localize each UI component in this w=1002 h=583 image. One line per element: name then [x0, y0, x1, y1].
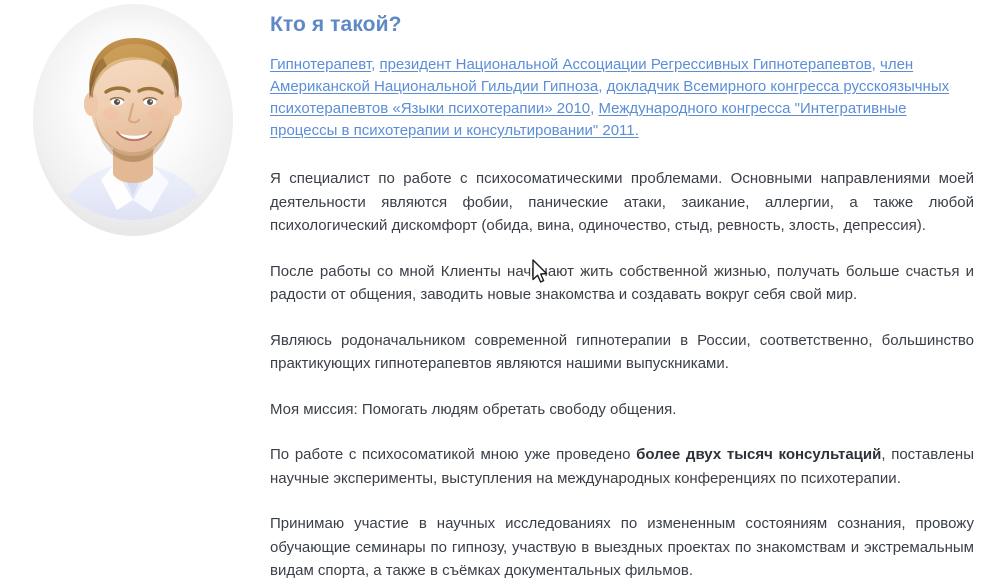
credential-separator: , — [598, 78, 606, 95]
page-title: Кто я такой? — [270, 0, 974, 39]
content-column: Кто я такой? Гипнотерапевт, президент На… — [270, 0, 974, 583]
credential-separator: , — [872, 56, 880, 73]
credential-link-1[interactable]: президент Национальной Ассоциации Регрес… — [379, 56, 871, 73]
avatar-column — [0, 0, 262, 553]
avatar — [33, 4, 233, 236]
credentials-links: Гипнотерапевт, президент Национальной Ас… — [270, 39, 974, 142]
paragraph-specialization: Я специалист по работе с психосоматическ… — [270, 142, 974, 238]
paragraph-research: Принимаю участие в научных исследованиях… — [270, 490, 974, 583]
experience-text-before: По работе с психосоматикой мною уже пров… — [270, 446, 636, 463]
paragraph-mission: Моя миссия: Помогать людям обретать своб… — [270, 376, 974, 422]
about-me-section: Кто я такой? Гипнотерапевт, президент На… — [0, 0, 1002, 553]
credential-link-0[interactable]: Гипнотерапевт — [270, 56, 371, 73]
experience-highlight: более двух тысяч консультаций — [636, 446, 881, 463]
paragraph-results: После работы со мной Клиенты начинают жи… — [270, 238, 974, 307]
paragraph-founder: Являюсь родоначальником современной гипн… — [270, 307, 974, 376]
paragraph-experience: По работе с психосоматикой мною уже пров… — [270, 421, 974, 490]
